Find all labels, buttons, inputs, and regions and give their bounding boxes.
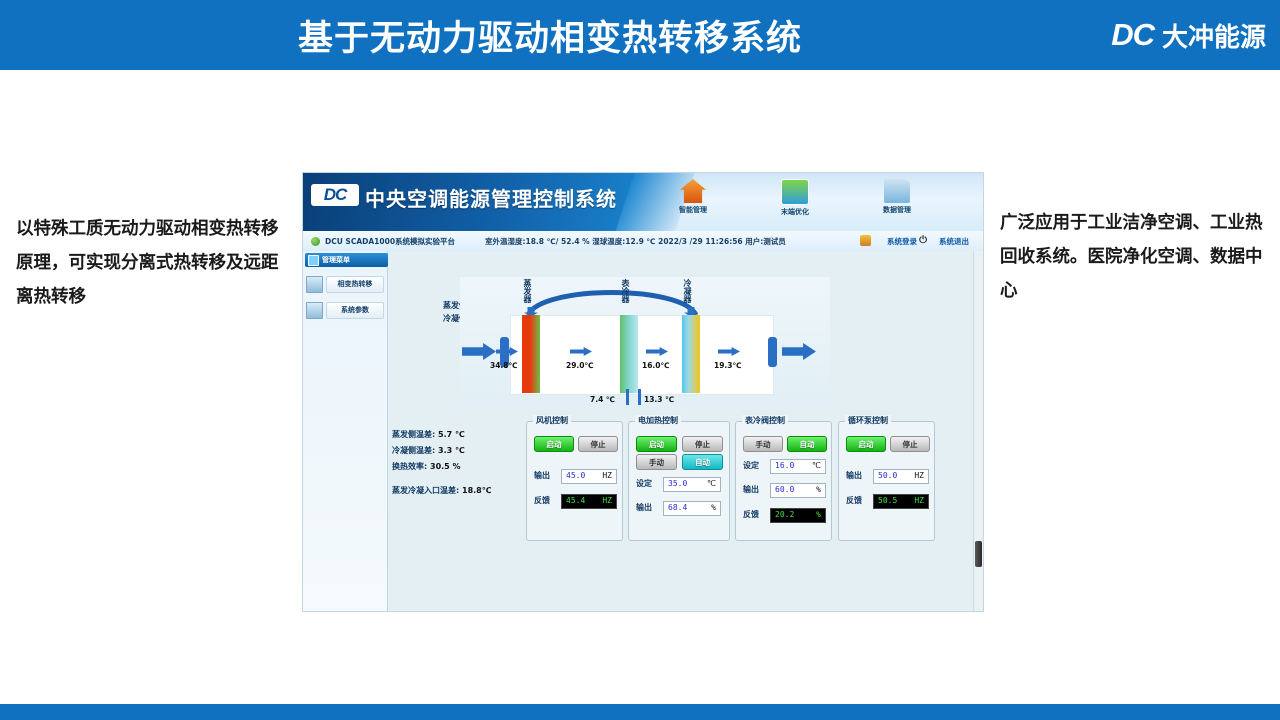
heater-stop-button[interactable]: 停止	[682, 436, 723, 452]
pump-feedback-value: 50.5	[878, 496, 897, 505]
nav-item-energy-analysis[interactable]: 能耗分析	[967, 179, 984, 227]
fan-feedback-unit: HZ	[602, 496, 612, 505]
heater-output-label: 输出	[636, 502, 652, 513]
condenser-label: 冷凝器	[682, 279, 693, 303]
fan-start-button[interactable]: 启动	[534, 436, 574, 452]
sidebar-item-label: 相变热转移	[326, 276, 384, 293]
valve-setpoint-label: 设定	[743, 460, 759, 471]
valve-output-field[interactable]: 60.0 %	[770, 483, 826, 498]
stat-spacer	[392, 475, 491, 483]
stat-value: 3.3 ℃	[438, 446, 465, 455]
pump-feedback-unit: HZ	[914, 496, 924, 505]
ahu-unit-diagram: 蒸发器 表冷器 冷凝器 34.8℃ 29.0℃ 16.0℃ 19.3℃ 7.4 …	[460, 277, 830, 407]
air-temp-3: 16.0℃	[642, 361, 670, 370]
environment-readout: 室外温湿度:18.8 ℃/ 52.4 % 湿球温度:12.9 ℃ 2022/3 …	[485, 236, 786, 247]
panel-fan-control: 风机控制 启动 停止 输出 45.0 HZ 反馈 45.4 HZ	[526, 421, 623, 541]
water-pipe-tick-1	[626, 389, 629, 405]
slide-header: 基于无动力驱动相变热转移系统 DC 大冲能源	[0, 0, 1280, 70]
pump-feedback-label: 反馈	[846, 495, 862, 506]
brand-logo: DC 大冲能源	[1111, 0, 1266, 70]
pump-stop-button[interactable]: 停止	[890, 436, 930, 452]
heater-start-button[interactable]: 启动	[636, 436, 677, 452]
water-temp-1: 7.4 ℃	[590, 395, 615, 404]
fan-feedback-label: 反馈	[534, 495, 550, 506]
connection-status-icon	[311, 237, 320, 246]
fan-stop-button[interactable]: 停止	[578, 436, 618, 452]
slide-footer	[0, 704, 1280, 720]
heater-setpoint-label: 设定	[636, 478, 652, 489]
scada-sidebar: 管理菜单 相变热转移 系统参数	[303, 251, 388, 611]
fan-output-value: 45.0	[566, 471, 585, 480]
folder-data-icon	[884, 179, 910, 203]
refrigerant-loop-pipe	[522, 283, 702, 317]
brand-name-label: 大冲能源	[1162, 17, 1266, 54]
stat-value: 18.8℃	[462, 486, 491, 495]
fan-output-unit: HZ	[602, 471, 612, 480]
heater-setpoint-unit: ℃	[707, 479, 716, 488]
heater-output-unit: %	[711, 503, 716, 512]
stat-row: 蒸发侧温差: 5.7 ℃	[392, 427, 491, 443]
sidebar-item-system-parameters[interactable]: 系统参数	[306, 299, 384, 321]
cooler-label: 表冷器	[620, 279, 631, 303]
page-title: 基于无动力驱动相变热转移系统	[0, 0, 1100, 70]
pump-output-unit: HZ	[914, 471, 924, 480]
air-temp-1: 34.8℃	[490, 361, 518, 370]
heater-setpoint-value: 35.0	[668, 479, 687, 488]
valve-output-unit: %	[816, 485, 821, 494]
nav-label: 数据管理	[865, 205, 929, 215]
valve-auto-button[interactable]: 自动	[787, 436, 827, 452]
caption-left: 以特殊工质无动力驱动相变热转移原理，可实现分离式热转移及远距离热转移	[16, 212, 288, 314]
caption-right: 广泛应用于工业洁净空调、工业热回收系统。医院净化空调、数据中心	[1000, 206, 1278, 308]
scada-screenshot: DC 中央空调能源管理控制系统 智能管理 末端优化 数据管理 能耗分析 DCU …	[302, 172, 984, 612]
panel-title: 电加热控制	[635, 415, 681, 426]
valve-feedback-unit: %	[816, 510, 821, 519]
valve-manual-button[interactable]: 手动	[743, 436, 783, 452]
brand-dc-mark: DC	[1111, 17, 1154, 53]
stat-value: 30.5 %	[430, 462, 461, 471]
panel-title: 表冷阀控制	[742, 415, 788, 426]
nav-label: 能耗分析	[967, 207, 984, 217]
stat-row: 换热效率: 30.5 %	[392, 459, 491, 475]
water-pipe-tick-2	[638, 389, 641, 405]
valve-output-value: 60.0	[775, 485, 794, 494]
sidebar-header: 管理菜单	[305, 253, 388, 267]
fan-output-label: 输出	[534, 470, 550, 481]
stat-label: 换热效率:	[392, 462, 427, 471]
valve-feedback-value: 20.2	[775, 510, 794, 519]
scada-status-bar: DCU SCADA1000系统模拟实验平台 室外温湿度:18.8 ℃/ 52.4…	[303, 231, 983, 252]
panel-cooling-valve-control: 表冷阀控制 手动 自动 设定 16.0 ℃ 输出 60.0 % 反馈 20.2 …	[735, 421, 832, 541]
condenser-coil	[682, 315, 700, 393]
scada-main-canvas: 蒸发侧室温:22.1℃ 冷凝侧室温:17.9℃ 蒸发器 表冷器 冷凝器	[388, 251, 983, 611]
sidebar-item-label: 系统参数	[326, 302, 384, 319]
duct-body	[510, 315, 774, 395]
panel-circulation-pump-control: 循环泵控制 启动 停止 输出 50.0 HZ 反馈 50.5 HZ	[838, 421, 935, 541]
evaporator-coil	[522, 315, 540, 393]
fan-output-field[interactable]: 45.0 HZ	[561, 469, 617, 484]
page-icon	[306, 276, 323, 293]
stat-row: 蒸发冷凝入口温差: 18.8℃	[392, 483, 491, 499]
system-login-button[interactable]: 系统登录	[887, 236, 917, 247]
heater-output-value: 68.4	[668, 503, 687, 512]
optimize-icon	[781, 179, 809, 205]
fan-feedback-value: 45.4	[566, 496, 585, 505]
valve-feedback-field: 20.2 %	[770, 508, 826, 523]
nav-item-terminal-optimization[interactable]: 末端优化	[763, 179, 827, 227]
stat-row: 冷凝侧温差: 3.3 ℃	[392, 443, 491, 459]
air-temp-4: 19.3℃	[714, 361, 742, 370]
scada-banner: DC 中央空调能源管理控制系统 智能管理 末端优化 数据管理 能耗分析	[303, 173, 983, 231]
pump-output-field[interactable]: 50.0 HZ	[873, 469, 929, 484]
stat-label: 冷凝侧温差:	[392, 446, 435, 455]
home-icon	[680, 179, 706, 203]
nav-item-smart-management[interactable]: 智能管理	[661, 179, 725, 227]
nav-label: 末端优化	[763, 207, 827, 217]
air-temp-2: 29.0℃	[566, 361, 594, 370]
valve-output-label: 输出	[743, 484, 759, 495]
sidebar-item-phase-change-heat-transfer[interactable]: 相变热转移	[306, 273, 384, 295]
outlet-damper-icon	[768, 337, 777, 367]
nav-label: 智能管理	[661, 205, 725, 215]
stat-label: 蒸发侧温差:	[392, 430, 435, 439]
valve-setpoint-field[interactable]: 16.0 ℃	[770, 459, 826, 474]
canvas-scrollbar-thumb[interactable]	[975, 541, 982, 567]
panel-title: 循环泵控制	[845, 415, 891, 426]
power-icon: ⏻	[919, 235, 927, 246]
pump-feedback-field: 50.5 HZ	[873, 494, 929, 509]
heater-output-field[interactable]: 68.4 %	[663, 501, 721, 516]
valve-setpoint-value: 16.0	[775, 461, 794, 470]
cooling-coil	[620, 315, 638, 393]
sidebar-header-label: 管理菜单	[322, 255, 350, 265]
air-outlet-arrow-icon	[782, 343, 816, 360]
nav-item-data-management[interactable]: 数据管理	[865, 179, 929, 227]
evaporator-label: 蒸发器	[522, 279, 533, 303]
system-logout-button[interactable]: 系统退出	[939, 236, 969, 247]
heater-manual-button[interactable]: 手动	[636, 454, 677, 470]
stat-label: 蒸发冷凝入口温差:	[392, 486, 459, 495]
stat-value: 5.7 ℃	[438, 430, 465, 439]
canvas-scrollbar[interactable]	[973, 251, 983, 611]
efficiency-stats: 蒸发侧温差: 5.7 ℃ 冷凝侧温差: 3.3 ℃ 换热效率: 30.5 % 蒸…	[392, 427, 491, 499]
scada-logo: DC	[311, 184, 359, 206]
platform-label: DCU SCADA1000系统模拟实验平台	[325, 236, 455, 247]
user-icon	[860, 235, 871, 246]
fan-feedback-field: 45.4 HZ	[561, 494, 617, 509]
pump-output-label: 输出	[846, 470, 862, 481]
heater-setpoint-field[interactable]: 35.0 ℃	[663, 477, 721, 492]
water-temp-2: 13.3 ℃	[644, 395, 674, 404]
scada-system-title: 中央空调能源管理控制系统	[365, 183, 617, 212]
panel-title: 风机控制	[533, 415, 571, 426]
menu-icon	[308, 255, 319, 266]
heater-auto-button[interactable]: 自动	[682, 454, 723, 470]
valve-feedback-label: 反馈	[743, 509, 759, 520]
valve-setpoint-unit: ℃	[812, 461, 821, 470]
pump-output-value: 50.0	[878, 471, 897, 480]
page-icon	[306, 302, 323, 319]
air-inlet-arrow-icon	[462, 343, 496, 360]
pump-start-button[interactable]: 启动	[846, 436, 886, 452]
panel-electric-heater-control: 电加热控制 启动 停止 手动 自动 设定 35.0 ℃ 输出 68.4 %	[628, 421, 730, 541]
